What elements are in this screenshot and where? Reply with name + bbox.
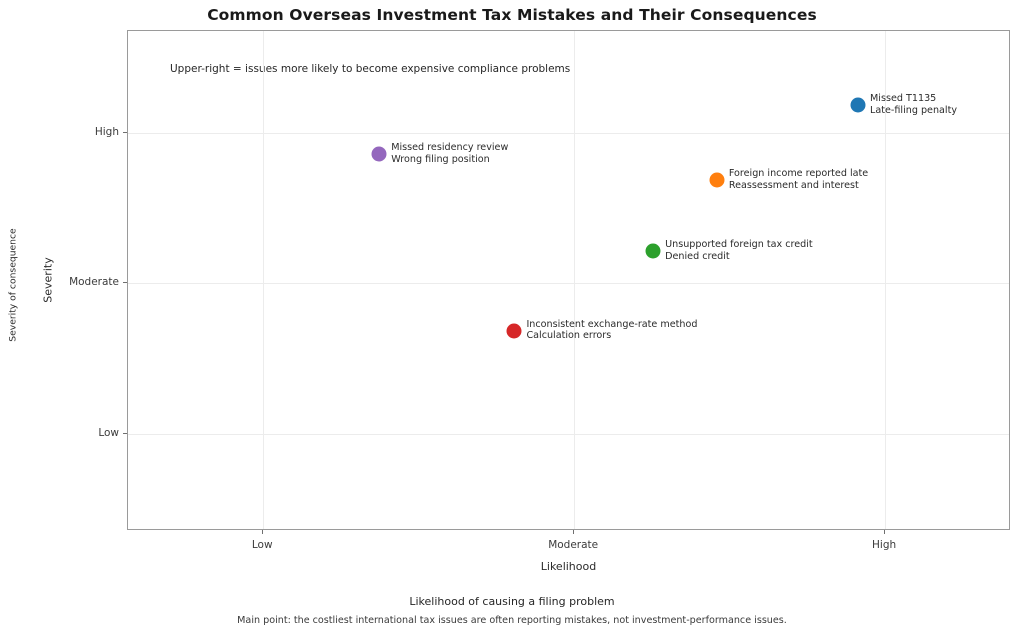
gridline-vertical: [574, 31, 575, 529]
data-point-name: Missed T1135: [870, 93, 957, 105]
data-point-name: Inconsistent exchange-rate method: [526, 319, 697, 331]
x-tick-mark: [262, 530, 263, 534]
y-tick-label-high: High: [60, 126, 119, 138]
data-point-name: Unsupported foreign tax credit: [665, 239, 813, 251]
data-point-marker[interactable]: [507, 323, 522, 338]
data-point-marker[interactable]: [646, 243, 661, 258]
data-point-name: Missed residency review: [391, 142, 508, 154]
data-point-consequence: Late-filing penalty: [870, 105, 957, 117]
gridline-horizontal: [128, 283, 1009, 284]
plot-annotation: Upper-right = issues more likely to beco…: [170, 63, 570, 75]
footer-main-point: Main point: the costliest international …: [0, 615, 1024, 626]
x-tick-label-high: High: [872, 539, 896, 551]
data-point-consequence: Wrong filing position: [391, 154, 508, 166]
data-point-label: Unsupported foreign tax creditDenied cre…: [665, 239, 813, 263]
data-point-label: Foreign income reported lateReassessment…: [729, 168, 868, 192]
gridline-horizontal: [128, 434, 1009, 435]
y-tick-mark: [123, 433, 127, 434]
y-tick-label-moderate: Moderate: [60, 276, 119, 288]
data-point-marker[interactable]: [372, 146, 387, 161]
x-tick-label-low: Low: [252, 539, 273, 551]
footer-x-description: Likelihood of causing a filing problem: [0, 595, 1024, 608]
x-axis-title: Likelihood: [127, 560, 1010, 573]
x-tick-mark: [884, 530, 885, 534]
data-point-label: Inconsistent exchange-rate methodCalcula…: [526, 319, 697, 343]
data-point-label: Missed residency reviewWrong filing posi…: [391, 142, 508, 166]
data-point-label: Missed T1135Late-filing penalty: [870, 93, 957, 117]
x-tick-mark: [573, 530, 574, 534]
gridline-vertical: [263, 31, 264, 529]
gridline-horizontal: [128, 133, 1009, 134]
plot-area: Upper-right = issues more likely to beco…: [127, 30, 1010, 530]
data-point-marker[interactable]: [851, 97, 866, 112]
x-tick-label-moderate: Moderate: [548, 539, 598, 551]
y-tick-mark: [123, 282, 127, 283]
data-point-consequence: Reassessment and interest: [729, 180, 868, 192]
data-point-marker[interactable]: [709, 173, 724, 188]
y-axis-title: Severity: [42, 257, 55, 302]
y-tick-label-low: Low: [60, 427, 119, 439]
chart-title: Common Overseas Investment Tax Mistakes …: [0, 6, 1024, 24]
y-tick-mark: [123, 132, 127, 133]
chart-figure: Common Overseas Investment Tax Mistakes …: [0, 0, 1024, 634]
data-point-consequence: Denied credit: [665, 251, 813, 263]
data-point-consequence: Calculation errors: [526, 331, 697, 343]
data-point-name: Foreign income reported late: [729, 168, 868, 180]
y-axis-outer-title: Severity of consequence: [8, 228, 19, 341]
